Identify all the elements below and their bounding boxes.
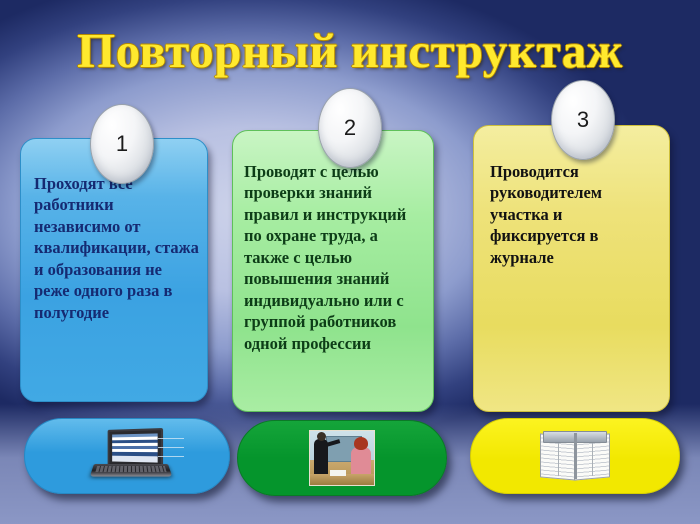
- info-card-3[interactable]: Проводится руководителем участка и фикси…: [473, 125, 670, 412]
- journal-icon: [539, 431, 611, 481]
- info-card-2[interactable]: Проводят с целью проверки знаний правил …: [232, 130, 434, 412]
- step-badge-2[interactable]: 2: [318, 88, 382, 168]
- laptop-icon: [84, 429, 170, 483]
- info-card-2-text: Проводят с целью проверки знаний правил …: [244, 161, 425, 354]
- image-panel-3[interactable]: [470, 418, 680, 494]
- page-title: Повторный инструктаж: [0, 22, 700, 79]
- instructor-photo-icon: [309, 430, 375, 486]
- info-card-1-text: Проходят все работники независимо от ква…: [34, 173, 199, 323]
- image-panel-1[interactable]: [24, 418, 230, 494]
- step-badge-1[interactable]: 1: [90, 104, 154, 184]
- image-panel-2[interactable]: [237, 420, 447, 496]
- step-badge-3[interactable]: 3: [551, 80, 615, 160]
- info-card-3-text: Проводится руководителем участка и фикси…: [490, 161, 661, 268]
- slide-canvas: Повторный инструктаж Проходят все работн…: [0, 0, 700, 524]
